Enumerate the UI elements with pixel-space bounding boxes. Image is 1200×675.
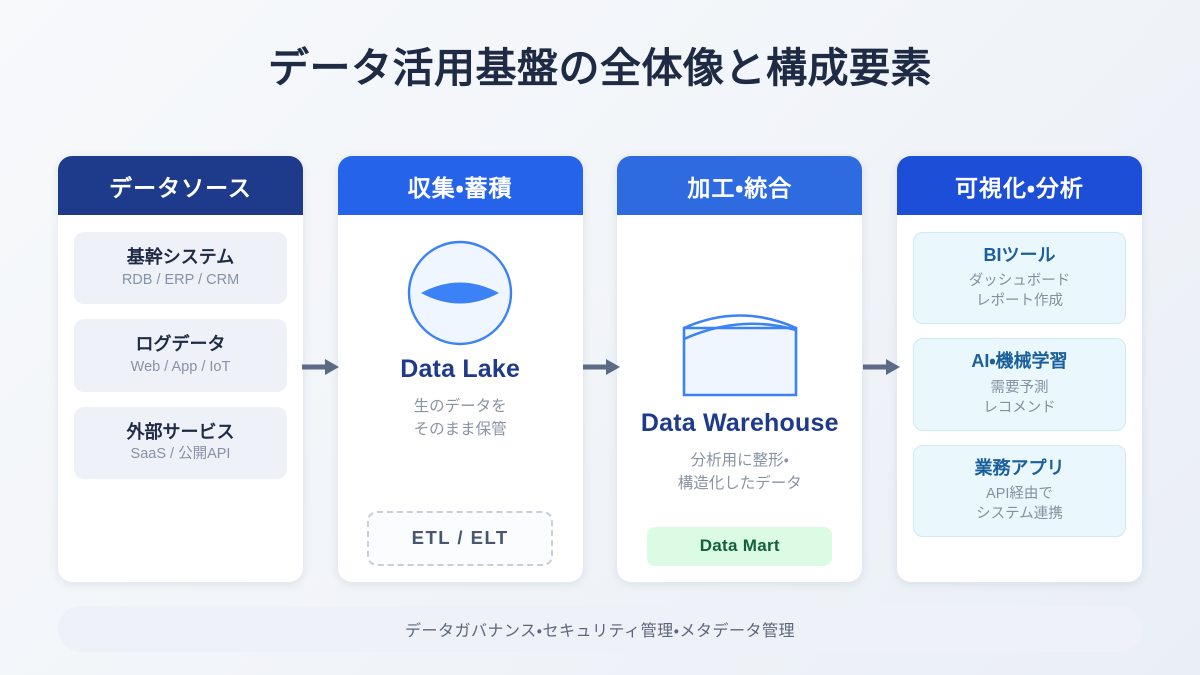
tag-etl-elt[interactable]: ETL / ELT [367,511,553,566]
tag-data-mart[interactable]: Data Mart [647,527,832,566]
analytics-card-subtitle: ダッシュボード レポート作成 [922,271,1117,311]
feature-desc-line-1: 分析用に整形・ [691,452,789,469]
source-card-title: 外部サービス [82,421,279,444]
feature-desc-line-1: 生のデータを [414,398,507,415]
analytics-sub-line-1: ダッシュボード [969,273,1071,289]
column-body-data-source: 基幹システム RDB / ERP / CRM ログデータ Web / App /… [58,215,303,582]
slide-canvas: データ活用基盤の全体像と構成要素 データソース 基幹システム RDB / ERP… [0,0,1200,675]
feature-data-lake: Data Lake 生のデータを そのまま保管 ETL / ELT [354,232,567,566]
column-data-source: データソース 基幹システム RDB / ERP / CRM ログデータ Web … [58,156,303,582]
arrow-collect-to-process [583,358,621,376]
data-warehouse-icon [677,298,803,402]
feature-desc-line-2: そのまま保管 [414,421,507,438]
source-card-title: 基幹システム [82,246,279,269]
analytics-card-title: AI・機械学習 [922,350,1117,373]
source-card-subtitle: RDB / ERP / CRM [82,271,279,290]
feature-desc-line-2: 構造化したデータ [678,475,802,492]
analytics-sub-line-2: レコメンド [983,400,1056,416]
feature-title-data-lake: Data Lake [400,355,520,384]
column-body-process-integrate: Data Warehouse 分析用に整形・ 構造化したデータ Data Mar… [617,215,862,582]
feature-data-warehouse: Data Warehouse 分析用に整形・ 構造化したデータ Data Mar… [633,232,846,566]
column-header-process-integrate: 加工・統合 [617,156,862,215]
feature-description-data-lake: 生のデータを そのまま保管 [414,395,507,442]
governance-footer-bar: データガバナンス・セキュリティ管理・メタデータ管理 [58,606,1142,652]
source-card-log-data[interactable]: ログデータ Web / App / IoT [74,319,287,391]
analytics-sub-line-2: システム連携 [976,506,1063,522]
feature-description-data-warehouse: 分析用に整形・ 構造化したデータ [678,449,802,496]
analytics-card-subtitle: 需要予測 レコメンド [922,378,1117,418]
column-header-visualize-analyze: 可視化・分析 [897,156,1142,215]
arrow-process-to-analyze [863,358,901,376]
analytics-card-title: BIツール [922,244,1117,267]
source-card-subtitle: Web / App / IoT [82,358,279,377]
analytics-sub-line-2: レポート作成 [976,293,1063,309]
data-lake-icon [406,239,514,347]
column-header-collect-store: 収集・蓄積 [338,156,583,215]
analytics-card-title: 業務アプリ [922,457,1117,480]
analytics-sub-line-1: API経由で [986,486,1053,502]
analytics-card-ai-ml[interactable]: AI・機械学習 需要予測 レコメンド [913,338,1126,430]
feature-title-data-warehouse: Data Warehouse [641,409,839,438]
analytics-card-bi-tool[interactable]: BIツール ダッシュボード レポート作成 [913,232,1126,324]
analytics-card-stack: BIツール ダッシュボード レポート作成 AI・機械学習 需要予測 レコメンド [913,232,1126,537]
column-body-visualize-analyze: BIツール ダッシュボード レポート作成 AI・機械学習 需要予測 レコメンド [897,215,1142,582]
analytics-card-business-app[interactable]: 業務アプリ API経由で システム連携 [913,445,1126,537]
column-body-collect-store: Data Lake 生のデータを そのまま保管 ETL / ELT [338,215,583,582]
column-header-data-source: データソース [58,156,303,215]
source-card-stack: 基幹システム RDB / ERP / CRM ログデータ Web / App /… [74,232,287,479]
source-card-core-system[interactable]: 基幹システム RDB / ERP / CRM [74,232,287,304]
column-visualize-analyze: 可視化・分析 BIツール ダッシュボード レポート作成 AI・機械学習 需要予測 [897,156,1142,582]
source-card-title: ログデータ [82,333,279,356]
analytics-sub-line-1: 需要予測 [990,380,1048,396]
source-card-subtitle: SaaS / 公開API [82,445,279,464]
source-card-external-service[interactable]: 外部サービス SaaS / 公開API [74,407,287,479]
column-collect-store: 収集・蓄積 Data Lake 生のデータを そのまま保管 ETL / [338,156,583,582]
page-title: データ活用基盤の全体像と構成要素 [0,34,1200,94]
column-process-integrate: 加工・統合 Data Warehouse 分析用に整形・ 構造化したデータ [617,156,862,582]
arrow-source-to-collect [302,358,340,376]
analytics-card-subtitle: API経由で システム連携 [922,484,1117,524]
